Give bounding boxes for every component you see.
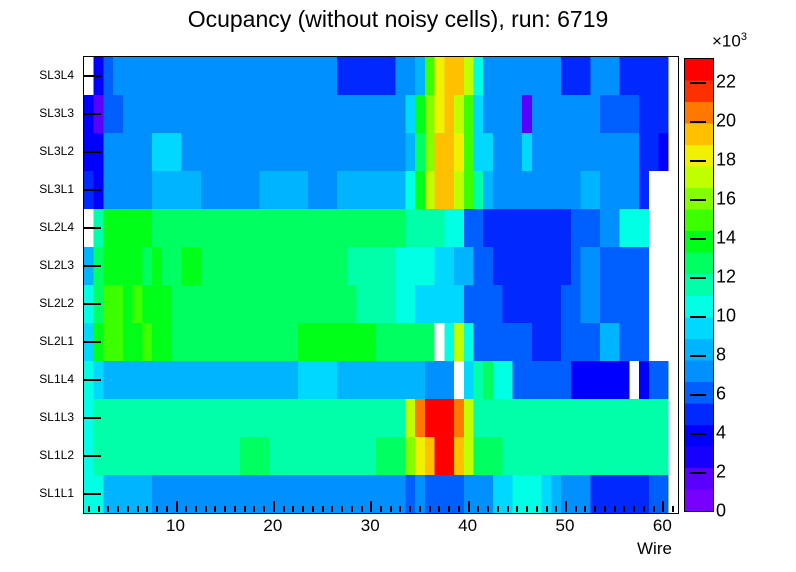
colorbar-tick-label-10: 10 [716, 306, 736, 327]
x-tick-mark-minor [166, 506, 168, 512]
x-tick-mark-minor [322, 506, 324, 512]
x-tick-mark-minor [331, 506, 333, 512]
x-tick-mark-minor [614, 506, 616, 512]
x-tick-mark-minor [253, 506, 255, 512]
heatmap-canvas-container[interactable] [84, 57, 678, 513]
y-tick-mark [84, 189, 101, 191]
x-tick-mark-minor [516, 506, 518, 512]
y-tick-mark [84, 303, 101, 305]
y-tick-mark [84, 113, 101, 115]
x-tick-mark-minor [98, 506, 100, 512]
y-tick-label-sl2l4: SL2L4 [39, 220, 74, 234]
x-tick-mark-minor [224, 506, 226, 512]
y-tick-label-sl1l4: SL1L4 [39, 372, 74, 386]
page-title: Ocupancy (without noisy cells), run: 671… [0, 6, 796, 33]
y-tick-label-sl3l4: SL3L4 [39, 68, 74, 82]
x-tick-mark-minor [156, 506, 158, 512]
x-tick-mark-minor [107, 506, 109, 512]
colorbar-tick-mark [690, 238, 706, 240]
colorbar-tick-label-6: 6 [716, 384, 726, 405]
x-tick-mark-minor [448, 506, 450, 512]
x-tick-label-10: 10 [166, 516, 185, 536]
x-tick-label-20: 20 [263, 516, 282, 536]
colorbar-container[interactable] [684, 58, 714, 512]
colorbar-tick-label-4: 4 [716, 423, 726, 444]
colorbar-tick-label-12: 12 [716, 267, 736, 288]
x-tick-mark-minor [429, 506, 431, 512]
colorbar-tick-label-2: 2 [716, 462, 726, 483]
y-tick-label-sl3l2: SL3L2 [39, 144, 74, 158]
y-tick-label-sl1l3: SL1L3 [39, 410, 74, 424]
x-tick-mark-minor [575, 506, 577, 512]
colorbar-tick-label-14: 14 [716, 228, 736, 249]
colorbar-tick-mark [690, 316, 706, 318]
x-tick-mark-minor [302, 506, 304, 512]
x-tick-mark-minor [604, 506, 606, 512]
y-tick-mark [84, 379, 101, 381]
y-tick-label-sl2l2: SL2L2 [39, 296, 74, 310]
x-tick-mark-minor [117, 506, 119, 512]
x-tick-mark-minor [390, 506, 392, 512]
x-tick-mark-minor [409, 506, 411, 512]
x-tick-mark-minor [653, 506, 655, 512]
x-tick-mark-major [273, 501, 275, 512]
colorbar-tick-mark [690, 199, 706, 201]
colorbar-canvas [685, 59, 713, 511]
colorbar-tick-label-8: 8 [716, 345, 726, 366]
y-tick-mark [84, 455, 101, 457]
x-tick-mark-minor [146, 506, 148, 512]
colorbar-tick-mark [690, 160, 706, 162]
colorbar-tick-mark [690, 394, 706, 396]
y-tick-mark [84, 227, 101, 229]
x-tick-mark-minor [546, 506, 548, 512]
x-tick-label-60: 60 [653, 516, 672, 536]
y-tick-mark [84, 151, 101, 153]
x-tick-mark-major [662, 501, 664, 512]
y-tick-label-sl2l3: SL2L3 [39, 258, 74, 272]
colorbar-tick-label-16: 16 [716, 189, 736, 210]
x-tick-label-30: 30 [361, 516, 380, 536]
y-tick-mark [84, 75, 101, 77]
x-tick-label-50: 50 [556, 516, 575, 536]
colorbar-tick-mark [690, 355, 706, 357]
y-tick-label-sl1l2: SL1L2 [39, 448, 74, 462]
colorbar-tick-label-20: 20 [716, 111, 736, 132]
x-tick-mark-minor [584, 506, 586, 512]
x-tick-mark-minor [623, 506, 625, 512]
x-tick-mark-minor [633, 506, 635, 512]
colorbar-exponent-label: ×103 [712, 31, 747, 52]
x-tick-mark-minor [263, 506, 265, 512]
x-tick-mark-minor [195, 506, 197, 512]
colorbar-tick-mark [690, 82, 706, 84]
y-tick-mark [84, 341, 101, 343]
x-tick-mark-minor [536, 506, 538, 512]
x-tick-mark-minor [672, 506, 674, 512]
x-tick-mark-minor [438, 506, 440, 512]
y-tick-label-sl3l3: SL3L3 [39, 106, 74, 120]
colorbar-tick-mark [690, 277, 706, 279]
y-tick-mark [84, 493, 101, 495]
plot-frame [83, 56, 679, 514]
x-tick-mark-major [468, 501, 470, 512]
y-tick-mark [84, 265, 101, 267]
x-tick-mark-minor [283, 506, 285, 512]
x-axis-title: Wire [637, 539, 672, 559]
x-tick-mark-major [370, 501, 372, 512]
colorbar-tick-mark [690, 472, 706, 474]
x-tick-mark-minor [507, 506, 509, 512]
x-tick-mark-minor [458, 506, 460, 512]
x-tick-mark-minor [361, 506, 363, 512]
x-tick-mark-minor [594, 506, 596, 512]
x-tick-mark-minor [88, 506, 90, 512]
colorbar-tick-label-22: 22 [716, 72, 736, 93]
x-tick-mark-minor [234, 506, 236, 512]
x-tick-mark-minor [205, 506, 207, 512]
heatmap-canvas[interactable] [84, 57, 678, 513]
x-tick-mark-minor [341, 506, 343, 512]
y-tick-label-sl3l1: SL3L1 [39, 182, 74, 196]
x-tick-mark-minor [497, 506, 499, 512]
colorbar-tick-mark [690, 121, 706, 123]
y-tick-label-sl1l1: SL1L1 [39, 486, 74, 500]
colorbar-tick-label-0: 0 [716, 501, 726, 522]
colorbar-tick-mark [690, 433, 706, 435]
x-tick-mark-minor [477, 506, 479, 512]
x-tick-mark-minor [487, 506, 489, 512]
x-tick-mark-minor [399, 506, 401, 512]
colorbar-tick-label-18: 18 [716, 150, 736, 171]
x-tick-mark-minor [643, 506, 645, 512]
x-tick-mark-minor [312, 506, 314, 512]
x-tick-mark-minor [351, 506, 353, 512]
x-tick-mark-minor [380, 506, 382, 512]
x-tick-mark-major [176, 501, 178, 512]
x-tick-mark-minor [526, 506, 528, 512]
x-tick-mark-minor [244, 506, 246, 512]
x-tick-mark-minor [137, 506, 139, 512]
x-tick-mark-minor [185, 506, 187, 512]
x-tick-mark-minor [127, 506, 129, 512]
x-tick-mark-minor [292, 506, 294, 512]
y-tick-mark [84, 417, 101, 419]
colorbar[interactable] [684, 58, 714, 512]
y-tick-label-sl2l1: SL2L1 [39, 334, 74, 348]
x-tick-label-40: 40 [458, 516, 477, 536]
x-tick-mark-minor [419, 506, 421, 512]
exponent-base: ×10 [712, 32, 741, 51]
x-tick-mark-minor [555, 506, 557, 512]
occupancy-plot-page: Ocupancy (without noisy cells), run: 671… [0, 0, 796, 572]
x-tick-mark-major [565, 501, 567, 512]
x-tick-mark-minor [214, 506, 216, 512]
exponent-power: 3 [741, 31, 747, 43]
